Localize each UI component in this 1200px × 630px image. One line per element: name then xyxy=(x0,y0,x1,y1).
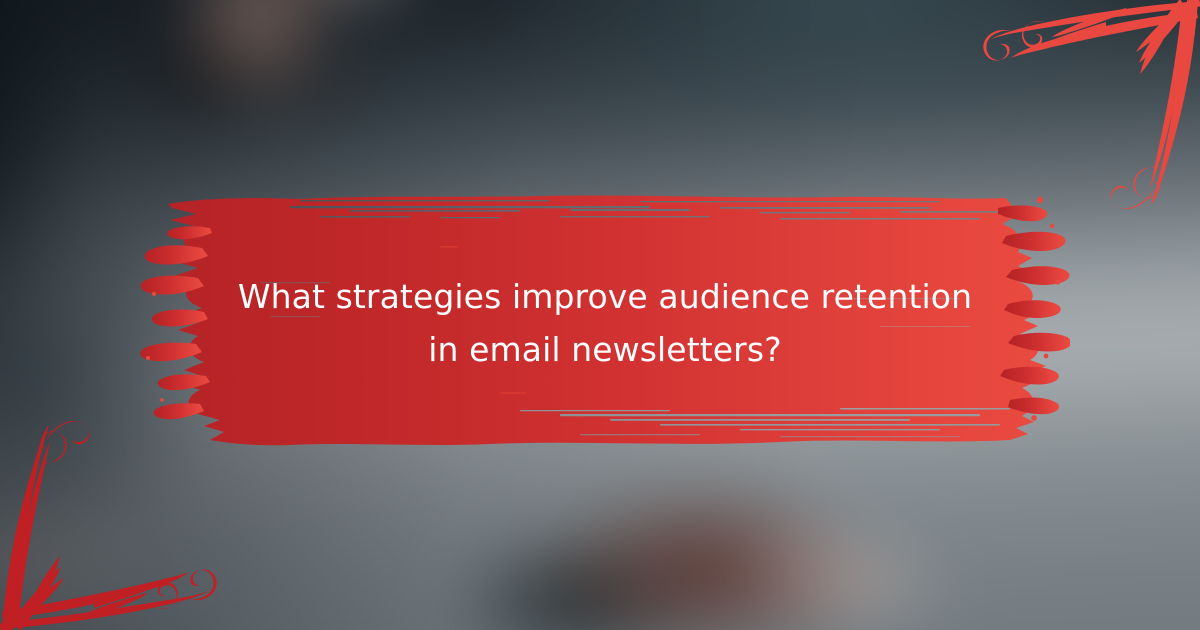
page-title: What strategies improve audience retenti… xyxy=(225,270,985,377)
question-card: What strategies improve audience retenti… xyxy=(0,0,1200,630)
headline-block: What strategies improve audience retenti… xyxy=(150,200,1060,446)
